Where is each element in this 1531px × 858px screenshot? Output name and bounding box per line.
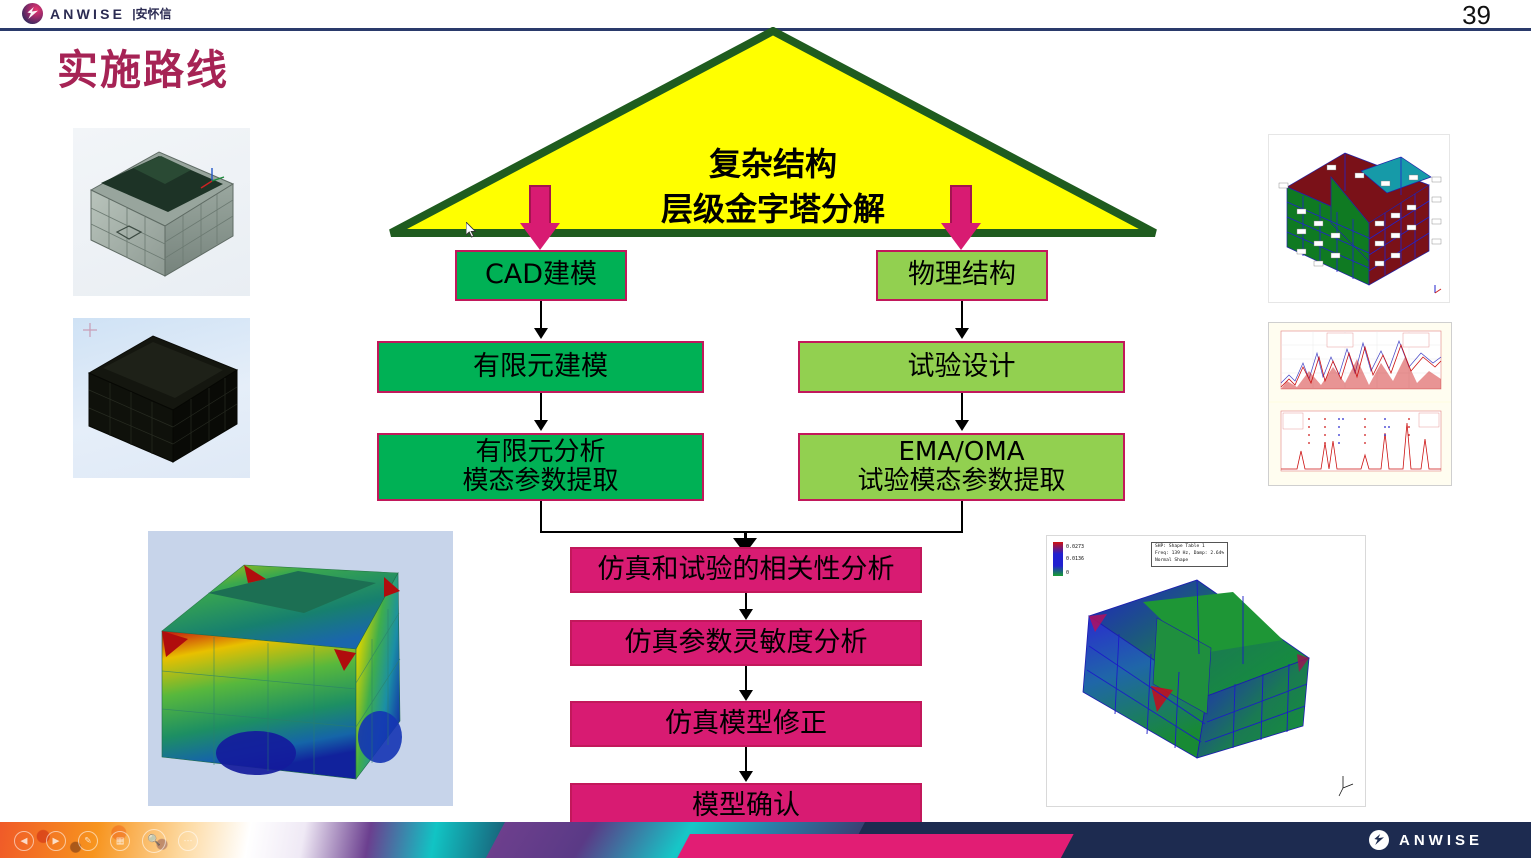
flow-box-sensitivity-analysis[interactable]: 仿真参数灵敏度分析 xyxy=(570,620,922,666)
flow-box-label-line2: 试验模态参数提取 xyxy=(857,467,1065,496)
anwise-logo-icon xyxy=(22,3,43,24)
connector-arrow-merged-3 xyxy=(739,771,753,782)
pen-tool-icon[interactable]: ✎ xyxy=(78,831,98,851)
flow-box-fe-analysis[interactable]: 有限元分析 模态参数提取 xyxy=(377,433,704,501)
image-mode-shape: 0.0273 0.0136 0 SHP: Shape Table 1 Freq:… xyxy=(1046,535,1366,807)
page-number: 39 xyxy=(1462,0,1491,31)
cad-model-illustration xyxy=(73,128,250,296)
flow-box-correlation-analysis[interactable]: 仿真和试验的相关性分析 xyxy=(570,547,922,593)
image-cad-model xyxy=(73,128,250,296)
brand-logo: ANWISE |安怀信 xyxy=(22,3,172,24)
shp-line1: SHP: Shape Table 1 xyxy=(1155,544,1205,549)
flow-box-model-updating[interactable]: 仿真模型修正 xyxy=(570,701,922,747)
frf-plot-illustration xyxy=(1269,323,1451,485)
flow-box-label-line2: 模态参数提取 xyxy=(462,467,618,496)
slide-footer: ◀ ▶ ✎ ▦ 🔍 ⋯ ANWISE xyxy=(0,822,1531,858)
image-fea-contour xyxy=(148,531,453,806)
test-geometry-illustration xyxy=(1269,135,1449,302)
flow-box-label: 模型确认 xyxy=(692,791,800,821)
connector-arrow-left-1 xyxy=(534,328,548,339)
page-title: 实施路线 xyxy=(57,50,229,91)
merge-horizontal xyxy=(540,531,963,533)
connector-arrow-merged-1 xyxy=(739,609,753,620)
prev-slide-button[interactable]: ◀ xyxy=(14,831,34,851)
flow-box-physical-structure[interactable]: 物理结构 xyxy=(876,250,1048,301)
footer-brand-name: ANWISE xyxy=(1399,832,1483,849)
arrow-head xyxy=(941,223,981,250)
arrow-stem xyxy=(950,185,972,225)
next-slide-button[interactable]: ▶ xyxy=(46,831,66,851)
flow-box-label: 物理结构 xyxy=(908,260,1016,290)
flow-box-ema-oma[interactable]: EMA/OMA 试验模态参数提取 xyxy=(798,433,1125,501)
pyramid-line-1: 复杂结构 xyxy=(387,139,1159,185)
fea-contour-illustration xyxy=(148,531,453,806)
svg-text:0: 0 xyxy=(1066,570,1069,576)
image-fe-mesh xyxy=(73,318,250,478)
brand-name: ANWISE xyxy=(50,6,125,22)
flow-box-cad-modeling[interactable]: CAD建模 xyxy=(455,250,627,301)
svg-text:0.0136: 0.0136 xyxy=(1066,556,1084,562)
svg-text:0.0273: 0.0273 xyxy=(1066,544,1084,550)
connector-arrow-left-2 xyxy=(534,420,548,431)
mode-shape-annotation: SHP: Shape Table 1 Freq: 139 Hz, Damp: 2… xyxy=(1151,542,1228,567)
magenta-arrow-left xyxy=(520,185,560,251)
pyramid-shape: 复杂结构 层级金字塔分解 xyxy=(387,27,1159,237)
more-options-icon[interactable]: ⋯ xyxy=(178,831,198,851)
image-frf-plots xyxy=(1268,322,1452,486)
flow-box-label: 仿真和试验的相关性分析 xyxy=(598,555,895,585)
image-test-mesh xyxy=(1268,134,1450,303)
flow-box-test-design[interactable]: 试验设计 xyxy=(798,341,1125,393)
merge-right-down xyxy=(961,501,963,533)
magenta-arrow-right xyxy=(941,185,981,251)
flow-box-label-line1: EMA/OMA xyxy=(898,438,1024,467)
flow-box-label-line1: 有限元分析 xyxy=(475,438,605,467)
pyramid-line-2: 层级金字塔分解 xyxy=(387,184,1159,230)
merge-left-down xyxy=(540,501,542,533)
connector-arrow-merged-2 xyxy=(739,690,753,701)
shp-line3: Normal Shape xyxy=(1155,558,1188,563)
flow-box-label: 仿真模型修正 xyxy=(665,709,827,739)
flow-box-fe-modeling[interactable]: 有限元建模 xyxy=(377,341,704,393)
brand-name-cn: |安怀信 xyxy=(132,5,171,22)
arrow-head xyxy=(520,223,560,250)
flow-box-label: 有限元建模 xyxy=(473,352,608,382)
slide-header: ANWISE |安怀信 39 xyxy=(0,0,1531,30)
flow-box-label: 试验设计 xyxy=(908,352,1016,382)
arrow-stem xyxy=(529,185,551,225)
flow-box-label: 仿真参数灵敏度分析 xyxy=(625,628,868,658)
slide-menu-icon[interactable]: ▦ xyxy=(110,831,130,851)
fe-mesh-illustration xyxy=(73,318,250,478)
connector-arrow-right-1 xyxy=(955,328,969,339)
shp-line2: Freq: 139 Hz, Damp: 2.64% xyxy=(1155,551,1224,556)
mode-shape-illustration: 0.0273 0.0136 0 xyxy=(1047,536,1365,806)
connector-arrow-right-2 xyxy=(955,420,969,431)
flow-box-label: CAD建模 xyxy=(485,260,597,290)
zoom-icon[interactable]: 🔍 xyxy=(142,829,166,853)
mouse-cursor xyxy=(466,222,478,238)
footer-brand-logo: ANWISE xyxy=(1369,830,1483,850)
anwise-footer-logo-icon xyxy=(1369,830,1389,850)
